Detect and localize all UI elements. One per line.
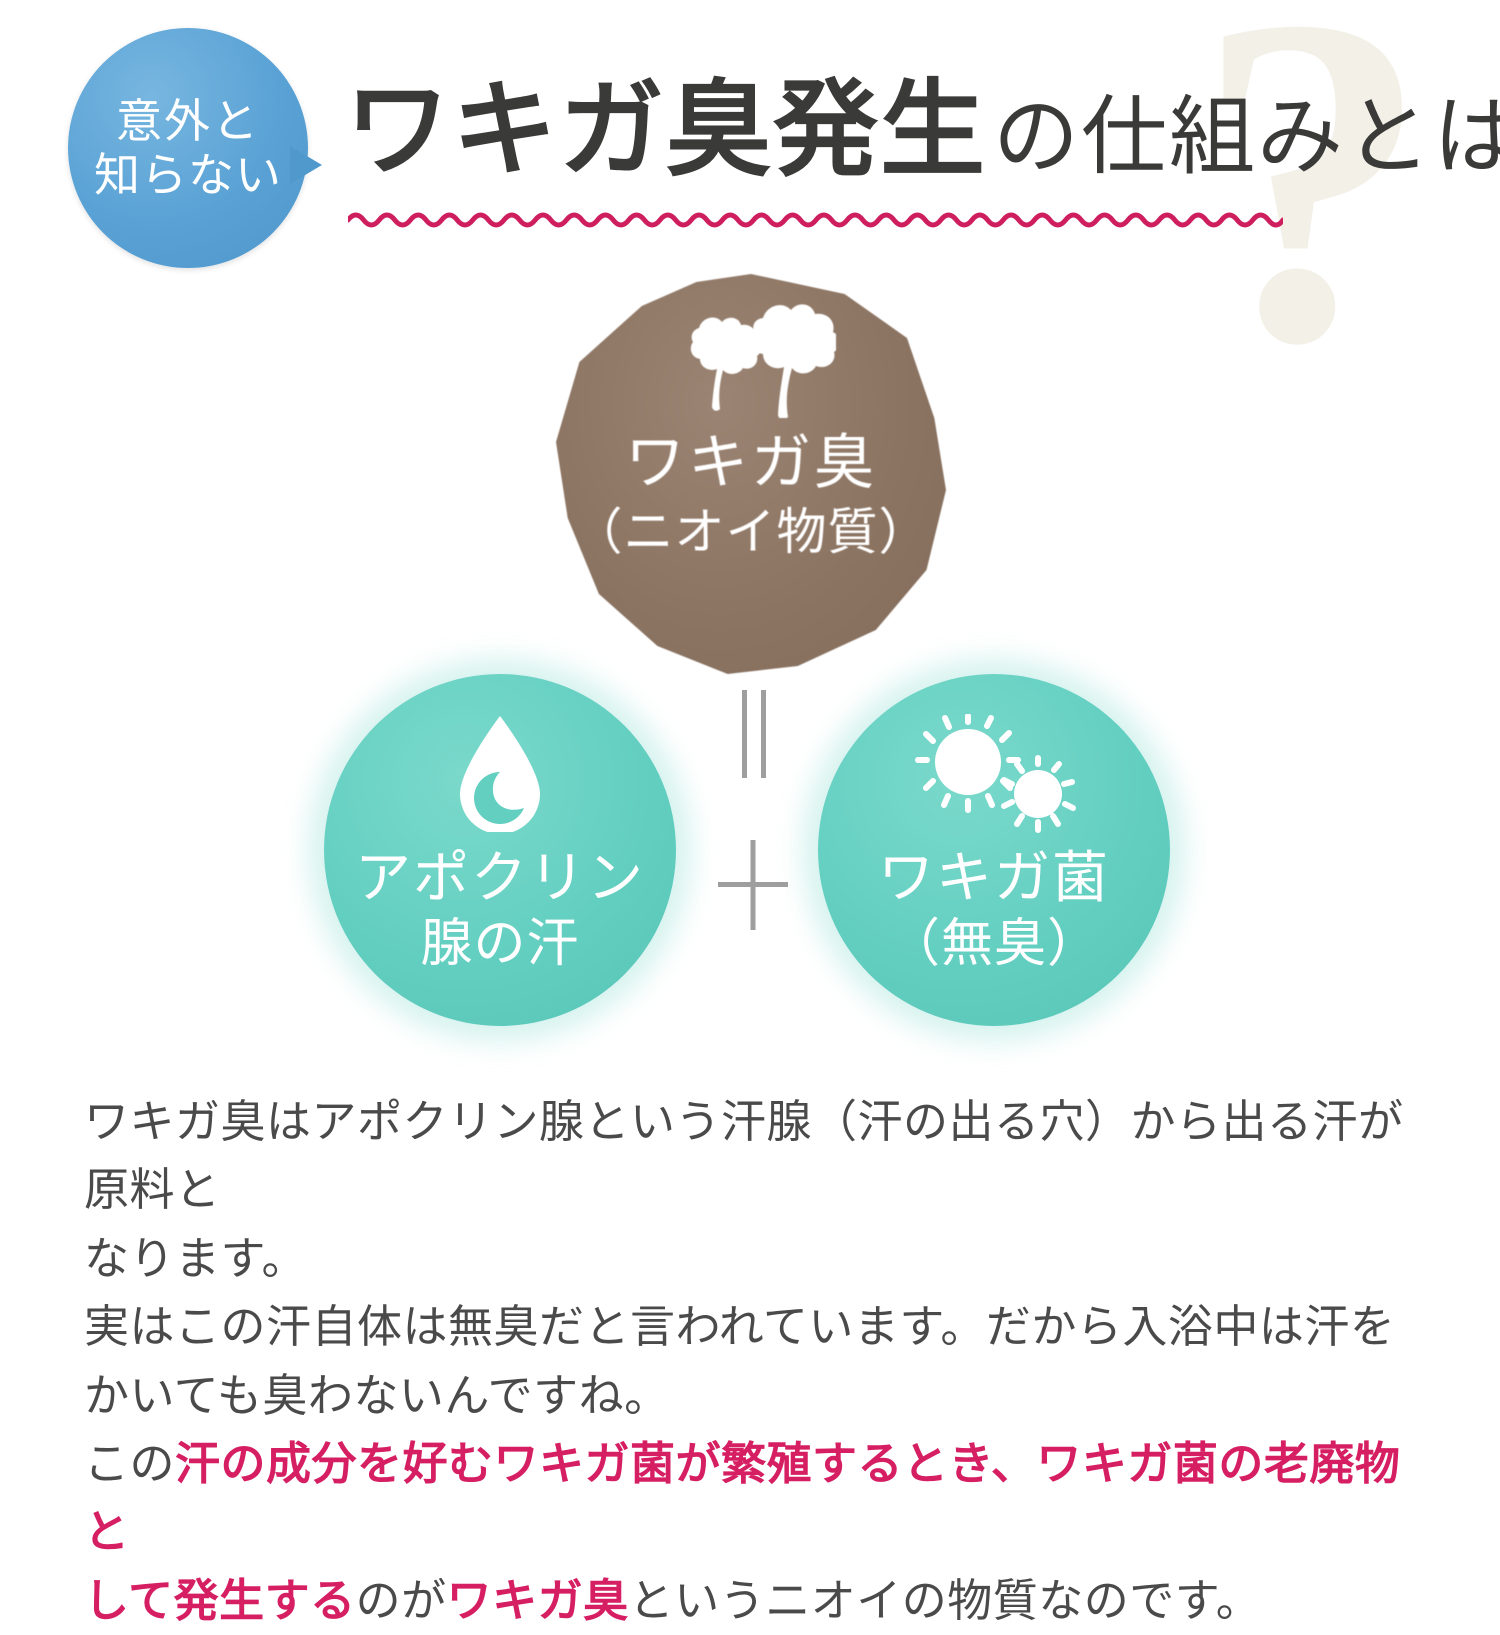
body-line-2: なります。 bbox=[84, 1225, 1444, 1293]
header-badge: 意外と 知らない bbox=[68, 28, 318, 278]
body-line-4: かいても臭わないんですね。 bbox=[84, 1362, 1444, 1430]
body-line-5: この汗の成分を好むワキガ菌が繁殖するとき、ワキガ菌の老廃物と bbox=[84, 1430, 1444, 1567]
title-emphasis: ワキガ臭発生 bbox=[345, 78, 987, 183]
diagram-node-bacteria: ワキガ菌 （無臭） bbox=[818, 674, 1170, 1026]
body-line-6: して発生するのがワキガ臭というニオイの物質なのです。 bbox=[84, 1567, 1444, 1635]
badge-circle: 意外と 知らない bbox=[68, 28, 308, 268]
badge-line-2: 知らない bbox=[94, 148, 282, 202]
body-line-3: 実はこの汗自体は無臭だと言われています。だから入浴中は汗を bbox=[84, 1293, 1444, 1361]
sweat-node-label-main: アポクリン bbox=[355, 846, 645, 912]
badge-pointer-tail bbox=[290, 146, 322, 184]
odor-node-label-main: ワキガ臭 bbox=[625, 428, 877, 499]
bacteria-node-label-sub: （無臭） bbox=[888, 914, 1100, 975]
diagram-node-odor: ワキガ臭 （ニオイ物質） bbox=[556, 274, 946, 674]
body-line-6-highlight-b: ワキガ臭 bbox=[447, 1575, 629, 1626]
mechanism-diagram: ワキガ臭 （ニオイ物質） アポクリン 腺の汗 bbox=[0, 250, 1500, 1070]
odor-node-content: ワキガ臭 （ニオイ物質） bbox=[556, 274, 946, 674]
stink-cloud-icon bbox=[666, 300, 836, 418]
bacteria-icon bbox=[908, 714, 1080, 834]
body-line-1: ワキガ臭はアポクリン腺という汗腺（汗の出る穴）から出る汗が原料と bbox=[84, 1088, 1444, 1225]
body-copy: ワキガ臭はアポクリン腺という汗腺（汗の出る穴）から出る汗が原料と なります。 実… bbox=[84, 1088, 1444, 1635]
badge-line-1: 意外と bbox=[116, 94, 260, 148]
body-line-5-plain: この bbox=[84, 1438, 175, 1489]
diagram-node-sweat: アポクリン 腺の汗 bbox=[324, 674, 676, 1026]
bacteria-node-label-main: ワキガ菌 bbox=[878, 846, 1110, 912]
page-title: ワキガ臭発生 の仕組みとは bbox=[345, 78, 1500, 183]
title-wavy-underline bbox=[348, 208, 1283, 228]
title-suffix: の仕組みとは bbox=[993, 94, 1500, 180]
water-drop-icon bbox=[454, 714, 546, 832]
body-line-5-highlight: 汗の成分を好むワキガ菌が繁殖するとき、ワキガ菌の老廃物と bbox=[84, 1438, 1400, 1557]
infographic-root: ? 意外と 知らない ワキガ臭発生 の仕組みとは ワキ bbox=[0, 0, 1500, 1500]
operator-plus-icon bbox=[718, 840, 788, 935]
body-line-6-plain-a: のが bbox=[356, 1575, 447, 1626]
sweat-node-label-sub: 腺の汗 bbox=[420, 914, 579, 975]
body-line-6-plain-b: というニオイの物質なのです。 bbox=[629, 1575, 1262, 1626]
body-line-6-highlight-a: して発生する bbox=[84, 1575, 356, 1626]
odor-node-label-sub: （ニオイ物質） bbox=[573, 503, 930, 562]
operator-equals-icon bbox=[736, 690, 772, 783]
